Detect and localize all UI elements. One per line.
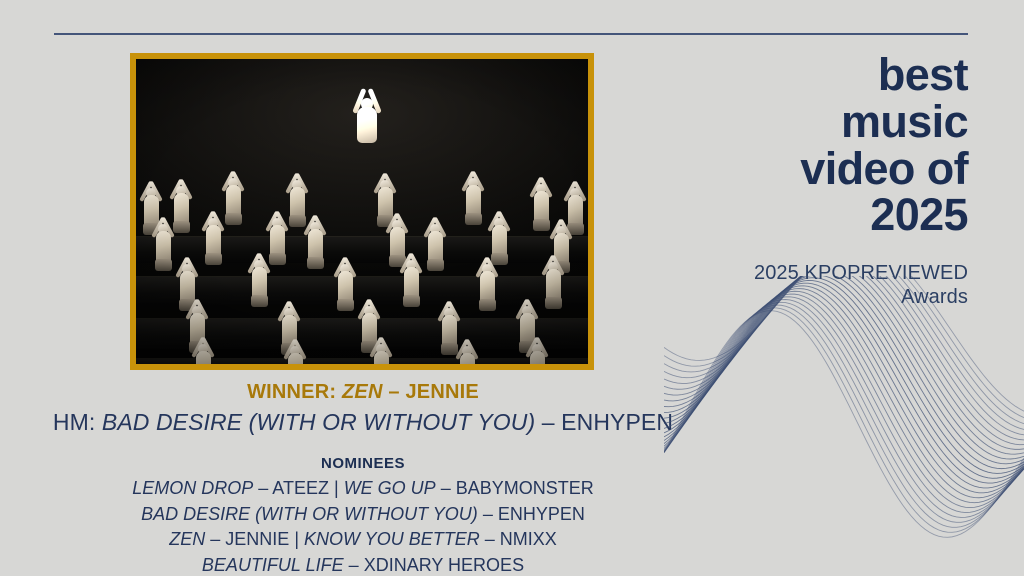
nominee-song: BAD DESIRE (WITH OR WITHOUT YOU) — [141, 504, 478, 524]
nominee-dash: – — [210, 529, 220, 549]
nominee-artist: NMIXX — [500, 529, 557, 549]
page-title: best music video of 2025 — [668, 52, 968, 239]
photo-vignette — [136, 59, 588, 364]
top-divider-rule — [54, 33, 968, 35]
nominee-song: ZEN — [169, 529, 205, 549]
title-line-2: music — [841, 96, 968, 147]
award-slide: best music video of 2025 2025 KPOPREVIEW… — [0, 0, 1024, 576]
nominee-artist: JENNIE — [225, 529, 289, 549]
nominee-separator: | — [334, 478, 339, 498]
winner-song: ZEN — [342, 381, 383, 403]
hm-artist: ENHYPEN — [561, 409, 673, 435]
nominee-song: WE GO UP — [344, 478, 436, 498]
nominee-separator: | — [294, 529, 299, 549]
winner-line: WINNER: ZEN – JENNIE — [0, 381, 726, 404]
subtitle-line-2: Awards — [901, 286, 968, 308]
list-item: BEAUTIFUL LIFE – XDINARY HEROES — [0, 553, 726, 576]
nominee-artist: ENHYPEN — [498, 504, 585, 524]
nominee-dash: – — [485, 529, 495, 549]
list-item: ZEN – JENNIE | KNOW YOU BETTER – NMIXX — [0, 527, 726, 553]
title-line-1: best — [878, 49, 968, 100]
nominee-dash: – — [258, 478, 268, 498]
winner-label: WINNER: — [247, 381, 336, 403]
nominee-artist: BABYMONSTER — [456, 478, 594, 498]
honorable-mention-line: HM: BAD DESIRE (WITH OR WITHOUT YOU) – E… — [0, 409, 726, 436]
nominee-dash: – — [349, 555, 359, 575]
nominee-song: LEMON DROP — [132, 478, 253, 498]
subtitle-line-1: 2025 KPOPREVIEWED — [754, 262, 968, 284]
hm-label: HM: — [53, 409, 95, 435]
nominee-artist: XDINARY HEROES — [364, 555, 524, 575]
nominee-song: KNOW YOU BETTER — [304, 529, 480, 549]
title-line-4: 2025 — [870, 189, 968, 240]
title-line-3: video of — [800, 143, 968, 194]
list-item: LEMON DROP – ATEEZ | WE GO UP – BABYMONS… — [0, 476, 726, 502]
nominee-song: BEAUTIFUL LIFE — [202, 555, 344, 575]
stage-photo — [136, 59, 588, 364]
hm-dash: – — [542, 409, 555, 435]
nominee-dash: – — [483, 504, 493, 524]
title-block: best music video of 2025 2025 KPOPREVIEW… — [668, 52, 968, 309]
winner-dash: – — [388, 381, 399, 403]
winner-photo-frame — [130, 53, 594, 370]
award-subtitle: 2025 KPOPREVIEWED Awards — [668, 261, 968, 309]
list-item: BAD DESIRE (WITH OR WITHOUT YOU) – ENHYP… — [0, 502, 726, 528]
nominees-heading: NOMINEES — [0, 455, 726, 472]
nominees-list: LEMON DROP – ATEEZ | WE GO UP – BABYMONS… — [0, 476, 726, 576]
nominee-dash: – — [441, 478, 451, 498]
winner-artist: JENNIE — [405, 381, 478, 403]
nominee-artist: ATEEZ — [272, 478, 329, 498]
hm-song: BAD DESIRE (WITH OR WITHOUT YOU) — [102, 409, 535, 435]
results-block: WINNER: ZEN – JENNIE HM: BAD DESIRE (WIT… — [0, 381, 726, 576]
